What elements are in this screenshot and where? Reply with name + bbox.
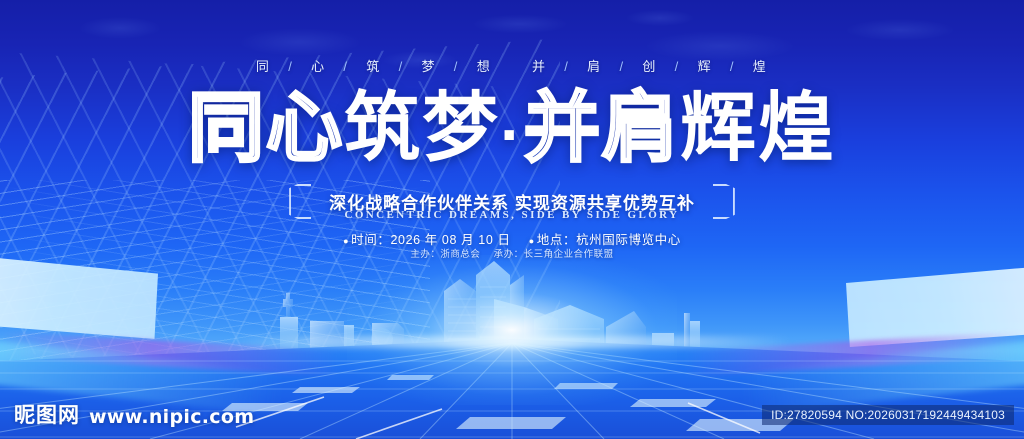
eyebrow-separator: / [675, 59, 681, 74]
eyebrow-char: 创 [642, 59, 657, 74]
eyebrow-separator: / [619, 59, 625, 74]
eyebrow-line: 同 / 心 / 筑 / 梦 / 想 并 / 肩 / 创 / 辉 / 煌 [0, 56, 1024, 75]
host-value: 浙商总会 [440, 249, 480, 260]
watermark-url: www.nipic.com [89, 406, 254, 429]
coorganizer-value: 长三角企业合作联盟 [524, 249, 614, 260]
watermark-brand: 昵图网 [14, 399, 80, 429]
eyebrow-char: 心 [311, 59, 326, 74]
eyebrow-char: 肩 [587, 59, 602, 74]
title-part-tongxin: 同心 [188, 86, 344, 171]
main-title: 同心筑梦·并肩辉煌 [0, 86, 1024, 177]
coorganizer-label: 承办： [494, 249, 524, 260]
eyebrow-char: 并 [532, 59, 547, 74]
eyebrow-char: 想 [477, 59, 492, 74]
title-part-bingjian: 并肩 [524, 86, 680, 171]
time-value: 2026 年 08 月 10 日 [390, 233, 510, 247]
place-label: 地点： [537, 233, 576, 247]
eyebrow-char: 筑 [366, 59, 381, 74]
title-middot: · [500, 97, 524, 171]
eyebrow-separator: / [288, 59, 294, 74]
eyebrow-char: 同 [256, 59, 271, 74]
eyebrow-separator: / [343, 59, 349, 74]
eyebrow-char: 辉 [698, 59, 713, 74]
eyebrow-separator: / [564, 59, 570, 74]
poster-canvas: 同 / 心 / 筑 / 梦 / 想 并 / 肩 / 创 / 辉 / 煌 同心筑梦… [0, 0, 1024, 439]
eyebrow-char: 煌 [753, 59, 768, 74]
place-value: 杭州国际博览中心 [576, 233, 681, 247]
eyebrow-char: 梦 [422, 59, 437, 74]
english-subtitle: CONCENTRIC DREAMS, SIDE BY SIDE GLORY [0, 209, 1024, 221]
title-part-huihuang: 辉煌 [680, 86, 836, 171]
eyebrow-separator: / [399, 59, 405, 74]
organizer-line: 主办：浙商总会 承办：长三角企业合作联盟 [0, 246, 1024, 260]
time-label: 时间： [351, 233, 390, 247]
bullet-icon: ● [343, 236, 349, 246]
bullet-icon: ● [529, 236, 535, 246]
host-label: 主办： [410, 249, 440, 260]
asset-id-badge: ID:27820594 NO:20260317192449434103 [762, 405, 1014, 425]
eyebrow-separator: / [730, 59, 736, 74]
poster-content: 同 / 心 / 筑 / 梦 / 想 并 / 肩 / 创 / 辉 / 煌 同心筑梦… [0, 0, 1024, 439]
title-part-zhumeng: 筑梦 [344, 86, 500, 171]
eyebrow-separator: / [454, 59, 460, 74]
site-watermark: 昵图网 www.nipic.com [14, 399, 254, 429]
